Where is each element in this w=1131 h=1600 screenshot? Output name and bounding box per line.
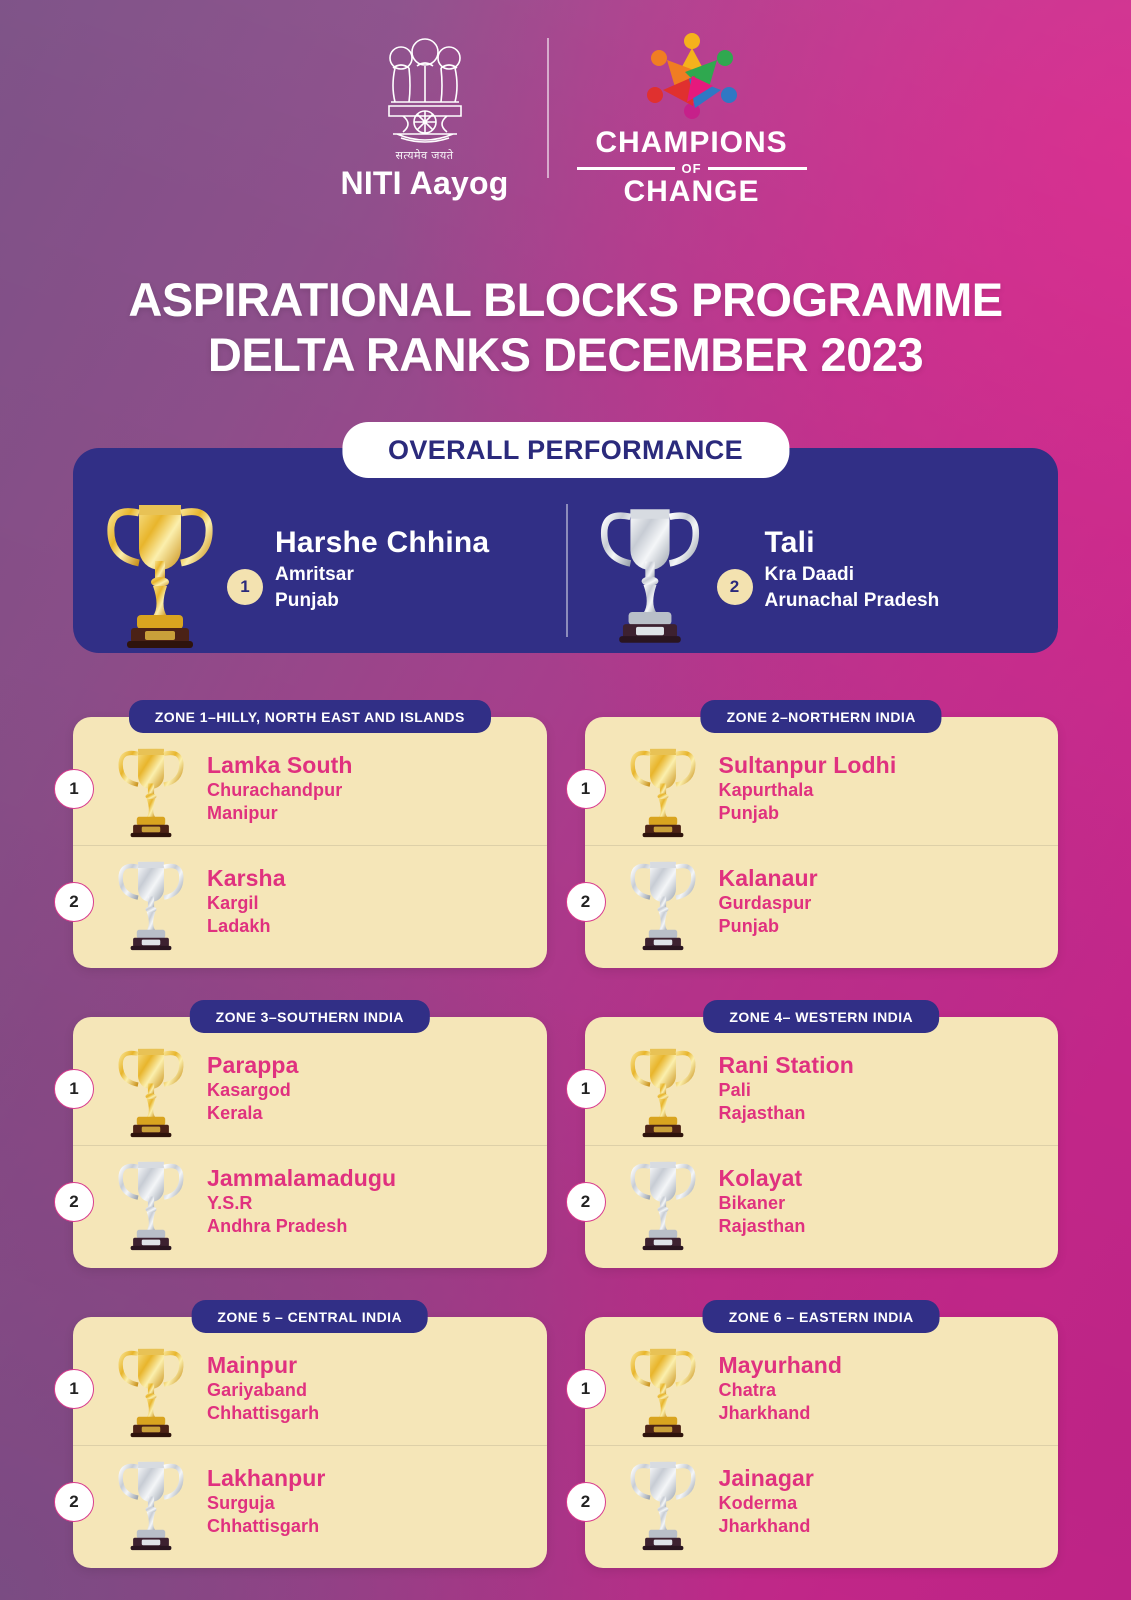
zone-body: 1 Rani Station Pali Rajasthan 2 Kolayat … <box>585 1017 1059 1268</box>
zone-entry: 1 Lamka South Churachandpur Manipur <box>73 733 547 845</box>
district-name: Kargil <box>207 892 286 915</box>
block-name: Jainagar <box>719 1466 814 1491</box>
zone-header: ZONE 4– WESTERN INDIA <box>703 1000 939 1033</box>
zone-body: 1 Lamka South Churachandpur Manipur 2 Ka… <box>73 717 547 968</box>
zone-header: ZONE 5 – CENTRAL INDIA <box>191 1300 428 1333</box>
rank-badge: 2 <box>54 1182 94 1222</box>
rank-badge: 1 <box>54 1369 94 1409</box>
block-name: Lakhanpur <box>207 1466 325 1491</box>
block-name: Harshe Chhina <box>275 526 489 559</box>
state-name: Andhra Pradesh <box>207 1215 396 1238</box>
rank-badge: 2 <box>566 882 606 922</box>
zone-card-5: ZONE 5 – CENTRAL INDIA 1 Mainpur Gariyab… <box>73 1300 547 1568</box>
zone-card-3: ZONE 3–SOUTHERN INDIA 1 Parappa Kasargod… <box>73 1000 547 1268</box>
zone-card-1: ZONE 1–HILLY, NORTH EAST AND ISLANDS 1 L… <box>73 700 547 968</box>
zone-entry: 2 Kolayat Bikaner Rajasthan <box>585 1145 1059 1258</box>
district-name: Churachandpur <box>207 779 353 802</box>
zone-entry: 2 Jainagar Koderma Jharkhand <box>585 1445 1059 1558</box>
rank-badge: 1 <box>566 1069 606 1109</box>
zone-entry: 1 Rani Station Pali Rajasthan <box>585 1033 1059 1145</box>
state-name: Rajasthan <box>719 1102 854 1125</box>
gold-trophy-icon <box>114 1039 188 1139</box>
satyamev-jayate-text: सत्यमेव जयते <box>395 148 453 163</box>
champions-of-change-logo: CHAMPIONS OF CHANGE <box>577 32 807 207</box>
zone-entry: 2 Lakhanpur Surguja Chhattisgarh <box>73 1445 547 1558</box>
state-name: Punjab <box>275 588 489 613</box>
zone-entry: 2 Kalanaur Gurdaspur Punjab <box>585 845 1059 958</box>
overall-performance-panel: OVERALL PERFORMANCE <box>73 448 1058 653</box>
block-name: Rani Station <box>719 1053 854 1078</box>
silver-trophy-icon <box>626 1152 700 1252</box>
rank-badge: 1 <box>54 769 94 809</box>
block-name: Tali <box>765 526 940 559</box>
block-name: Jammalamadugu <box>207 1166 396 1191</box>
gold-trophy-icon <box>114 1339 188 1439</box>
district-name: Y.S.R <box>207 1192 396 1215</box>
zone-header: ZONE 1–HILLY, NORTH EAST AND ISLANDS <box>129 700 491 733</box>
zone-entry: 1 Mainpur Gariyaband Chhattisgarh <box>73 1333 547 1445</box>
block-name: Kalanaur <box>719 866 818 891</box>
rank-badge: 2 <box>54 882 94 922</box>
overall-performance-label: OVERALL PERFORMANCE <box>388 435 743 465</box>
silver-trophy-icon <box>114 1152 188 1252</box>
district-name: Gariyaband <box>207 1379 319 1402</box>
district-name: Kra Daadi <box>765 562 940 587</box>
logo-divider <box>547 38 549 178</box>
block-name: Karsha <box>207 866 286 891</box>
silver-trophy-icon <box>114 852 188 952</box>
district-name: Bikaner <box>719 1192 806 1215</box>
district-name: Kasargod <box>207 1079 298 1102</box>
champions-of-row: OF <box>577 161 807 176</box>
rank-badge: 1 <box>54 1069 94 1109</box>
zone-header: ZONE 2–NORTHERN INDIA <box>701 700 942 733</box>
zone-grid: ZONE 1–HILLY, NORTH EAST AND ISLANDS 1 L… <box>73 700 1058 1600</box>
zone-entry: 2 Jammalamadugu Y.S.R Andhra Pradesh <box>73 1145 547 1258</box>
state-name: Manipur <box>207 802 353 825</box>
rank-badge: 1 <box>566 769 606 809</box>
state-name: Punjab <box>719 802 897 825</box>
state-name: Chhattisgarh <box>207 1515 325 1538</box>
block-name: Parappa <box>207 1053 298 1078</box>
silver-trophy-icon <box>114 1452 188 1552</box>
district-name: Surguja <box>207 1492 325 1515</box>
rank-badge: 2 <box>717 569 753 605</box>
district-name: Amritsar <box>275 562 489 587</box>
district-name: Gurdaspur <box>719 892 818 915</box>
overall-entry-2: 2 Tali Kra Daadi Arunachal Pradesh <box>569 486 1059 653</box>
rule-left <box>577 167 676 170</box>
of-text: OF <box>681 161 701 176</box>
change-text: CHANGE <box>623 177 759 207</box>
rank-badge: 1 <box>227 569 263 605</box>
state-name: Rajasthan <box>719 1215 806 1238</box>
block-name: Sultanpur Lodhi <box>719 753 897 778</box>
zone-entry: 1 Sultanpur Lodhi Kapurthala Punjab <box>585 733 1059 845</box>
title-line-1: ASPIRATIONAL BLOCKS PROGRAMME <box>0 272 1131 327</box>
gold-trophy-icon <box>114 739 188 839</box>
zone-header: ZONE 6 – EASTERN INDIA <box>703 1300 940 1333</box>
page-title: ASPIRATIONAL BLOCKS PROGRAMME DELTA RANK… <box>0 272 1131 383</box>
rule-right <box>708 167 807 170</box>
gold-trophy-icon <box>626 1039 700 1139</box>
gold-trophy-icon <box>626 739 700 839</box>
silver-trophy-icon <box>585 494 715 646</box>
zone-body: 1 Mayurhand Chatra Jharkhand 2 Jainagar … <box>585 1317 1059 1568</box>
overall-entry-1: 1 Harshe Chhina Amritsar Punjab <box>73 486 569 653</box>
title-line-2: DELTA RANKS DECEMBER 2023 <box>0 327 1131 382</box>
block-name: Mayurhand <box>719 1353 843 1378</box>
zone-body: 1 Sultanpur Lodhi Kapurthala Punjab 2 Ka… <box>585 717 1059 968</box>
zone-row: ZONE 5 – CENTRAL INDIA 1 Mainpur Gariyab… <box>73 1300 1058 1568</box>
rank-badge: 2 <box>566 1482 606 1522</box>
zone-header: ZONE 3–SOUTHERN INDIA <box>190 1000 430 1033</box>
block-name: Lamka South <box>207 753 353 778</box>
state-name: Ladakh <box>207 915 286 938</box>
zone-body: 1 Parappa Kasargod Kerala 2 Jammalamadug… <box>73 1017 547 1268</box>
state-name: Chhattisgarh <box>207 1402 319 1425</box>
gold-trophy-icon <box>95 489 225 651</box>
rank-badge: 2 <box>566 1182 606 1222</box>
district-name: Koderma <box>719 1492 814 1515</box>
zone-body: 1 Mainpur Gariyaband Chhattisgarh 2 Lakh… <box>73 1317 547 1568</box>
block-name: Kolayat <box>719 1166 806 1191</box>
state-name: Punjab <box>719 915 818 938</box>
champions-text: CHAMPIONS <box>595 128 787 158</box>
state-name: Jharkhand <box>719 1515 814 1538</box>
district-name: Kapurthala <box>719 779 897 802</box>
overall-divider <box>566 504 568 637</box>
niti-aayog-logo: सत्यमेव जयते NITI Aayog <box>325 32 525 202</box>
niti-aayog-wordmark: NITI Aayog <box>341 165 509 202</box>
gold-trophy-icon <box>626 1339 700 1439</box>
silver-trophy-icon <box>626 1452 700 1552</box>
zone-row: ZONE 3–SOUTHERN INDIA 1 Parappa Kasargod… <box>73 1000 1058 1268</box>
rank-badge: 2 <box>54 1482 94 1522</box>
champions-star-people-icon <box>637 32 747 124</box>
overall-performance-tab: OVERALL PERFORMANCE <box>342 422 789 478</box>
block-name: Mainpur <box>207 1353 319 1378</box>
zone-card-2: ZONE 2–NORTHERN INDIA 1 Sultanpur Lodhi … <box>585 700 1059 968</box>
zone-entry: 2 Karsha Kargil Ladakh <box>73 845 547 958</box>
district-name: Pali <box>719 1079 854 1102</box>
ashoka-emblem-icon <box>373 32 477 150</box>
zone-card-6: ZONE 6 – EASTERN INDIA 1 Mayurhand Chatr… <box>585 1300 1059 1568</box>
district-name: Chatra <box>719 1379 843 1402</box>
state-name: Jharkhand <box>719 1402 843 1425</box>
zone-card-4: ZONE 4– WESTERN INDIA 1 Rani Station Pal… <box>585 1000 1059 1268</box>
header-logos: सत्यमेव जयते NITI Aayog CHAMPIONS <box>0 32 1131 207</box>
zone-row: ZONE 1–HILLY, NORTH EAST AND ISLANDS 1 L… <box>73 700 1058 968</box>
silver-trophy-icon <box>626 852 700 952</box>
zone-entry: 1 Mayurhand Chatra Jharkhand <box>585 1333 1059 1445</box>
rank-badge: 1 <box>566 1369 606 1409</box>
state-name: Kerala <box>207 1102 298 1125</box>
state-name: Arunachal Pradesh <box>765 588 940 613</box>
zone-entry: 1 Parappa Kasargod Kerala <box>73 1033 547 1145</box>
